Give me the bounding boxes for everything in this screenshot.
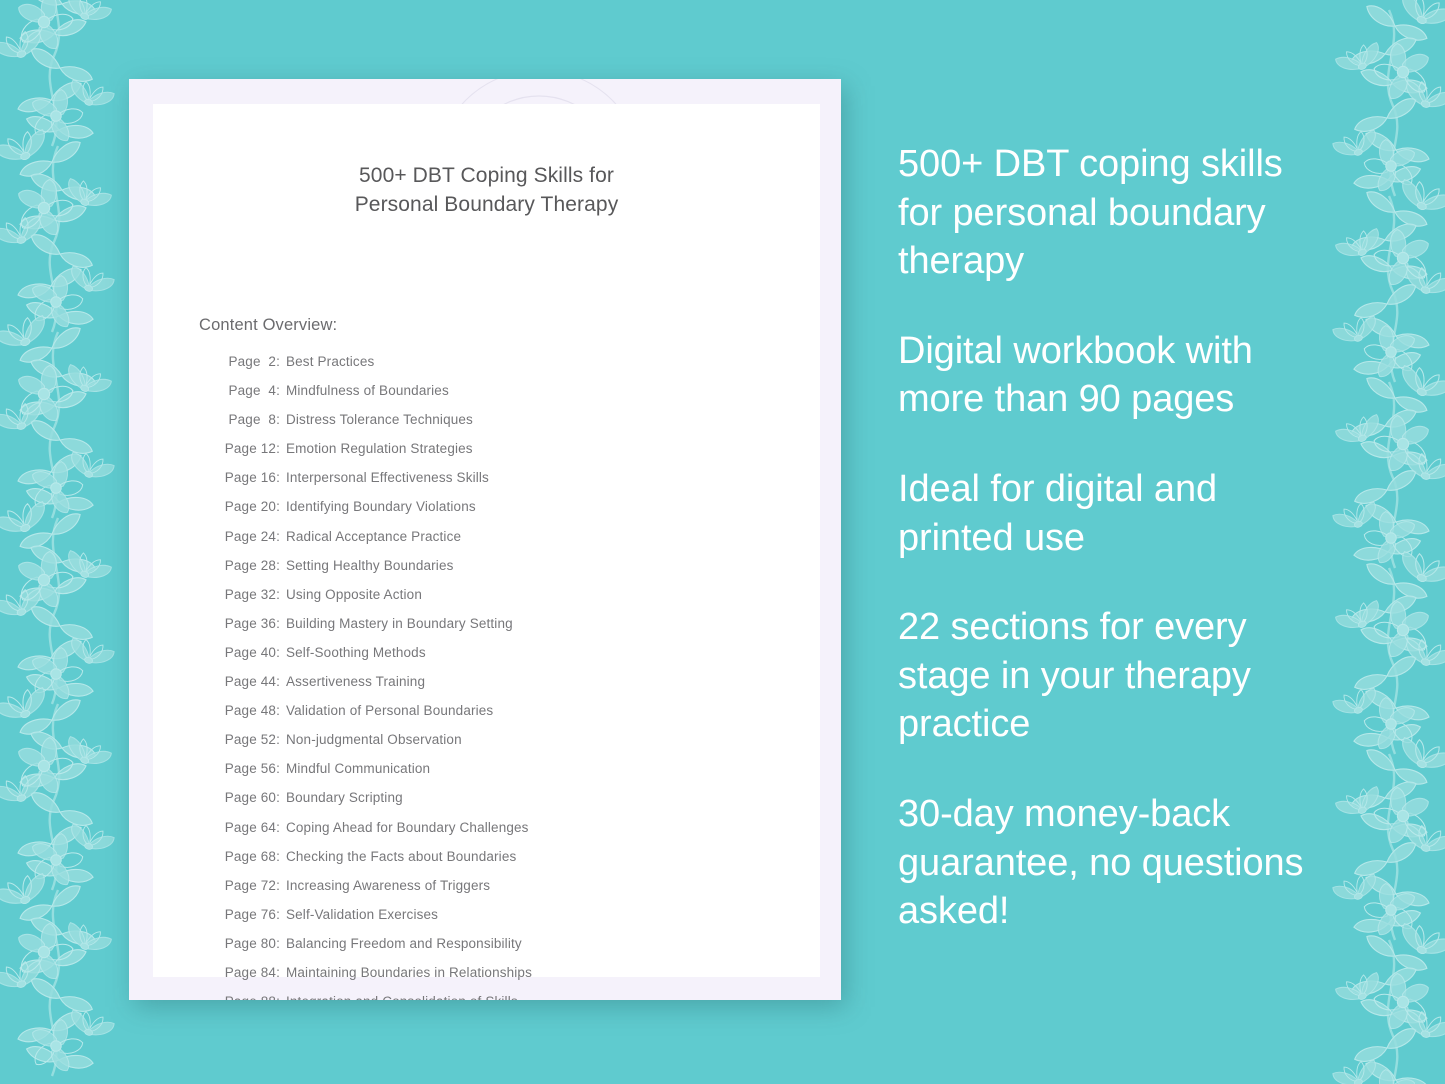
toc-entry-label: Identifying Boundary Violations: [286, 499, 476, 514]
floral-vine-border-left: [0, 0, 128, 1084]
toc-entry-label: Boundary Scripting: [286, 790, 403, 805]
toc-entry-label: Increasing Awareness of Triggers: [286, 878, 490, 893]
toc-row: Page 12:Emotion Regulation Strategies: [222, 441, 802, 470]
toc-page-number: Page 4:: [222, 383, 280, 398]
toc-entry-label: Emotion Regulation Strategies: [286, 441, 473, 456]
toc-page-number: Page 2:: [222, 354, 280, 369]
toc-page-number: Page 88:: [222, 994, 280, 1000]
marketing-bullet: 30-day money-back guarantee, no question…: [898, 790, 1328, 936]
toc-entry-label: Self-Soothing Methods: [286, 645, 426, 660]
toc-row: Page 84:Maintaining Boundaries in Relati…: [222, 965, 802, 994]
toc-row: Page 60:Boundary Scripting: [222, 790, 802, 819]
toc-page-number: Page 76:: [222, 907, 280, 922]
toc-page-number: Page 16:: [222, 470, 280, 485]
toc-row: Page 20:Identifying Boundary Violations: [222, 499, 802, 528]
toc-row: Page 8:Distress Tolerance Techniques: [222, 412, 802, 441]
toc-entry-label: Integration and Consolidation of Skills: [286, 994, 518, 1000]
toc-row: Page 80:Balancing Freedom and Responsibi…: [222, 936, 802, 965]
toc-row: Page 2:Best Practices: [222, 354, 802, 383]
toc-entry-label: Mindfulness of Boundaries: [286, 383, 449, 398]
toc-page-number: Page 64:: [222, 820, 280, 835]
toc-entry-label: Using Opposite Action: [286, 587, 422, 602]
marketing-bullet: Ideal for digital and printed use: [898, 465, 1328, 562]
toc-entry-label: Coping Ahead for Boundary Challenges: [286, 820, 529, 835]
toc-entry-label: Best Practices: [286, 354, 374, 369]
toc-entry-label: Self-Validation Exercises: [286, 907, 438, 922]
toc-row: Page 88:Integration and Consolidation of…: [222, 994, 802, 1000]
toc-page-number: Page 36:: [222, 616, 280, 631]
page-title: 500+ DBT Coping Skills for Personal Boun…: [153, 161, 820, 219]
document-page: 500+ DBT Coping Skills for Personal Boun…: [153, 104, 820, 977]
toc-page-number: Page 48:: [222, 703, 280, 718]
toc-page-number: Page 60:: [222, 790, 280, 805]
workbook-preview-card: 500+ DBT Coping Skills for Personal Boun…: [129, 79, 841, 1000]
toc-row: Page 44:Assertiveness Training: [222, 674, 802, 703]
toc-page-number: Page 24:: [222, 529, 280, 544]
toc-entry-label: Building Mastery in Boundary Setting: [286, 616, 513, 631]
toc-row: Page 16:Interpersonal Effectiveness Skil…: [222, 470, 802, 499]
toc-entry-label: Mindful Communication: [286, 761, 430, 776]
toc-entry-label: Validation of Personal Boundaries: [286, 703, 493, 718]
toc-entry-label: Non-judgmental Observation: [286, 732, 462, 747]
toc-entry-label: Assertiveness Training: [286, 674, 425, 689]
table-of-contents: Page 2:Best PracticesPage 4:Mindfulness …: [222, 354, 802, 1000]
content-overview-label: Content Overview:: [199, 316, 337, 335]
toc-page-number: Page 32:: [222, 587, 280, 602]
toc-entry-label: Setting Healthy Boundaries: [286, 558, 454, 573]
toc-page-number: Page 56:: [222, 761, 280, 776]
toc-entry-label: Checking the Facts about Boundaries: [286, 849, 516, 864]
toc-page-number: Page 80:: [222, 936, 280, 951]
toc-row: Page 36:Building Mastery in Boundary Set…: [222, 616, 802, 645]
toc-row: Page 4:Mindfulness of Boundaries: [222, 383, 802, 412]
toc-page-number: Page 28:: [222, 558, 280, 573]
toc-row: Page 40:Self-Soothing Methods: [222, 645, 802, 674]
toc-page-number: Page 20:: [222, 499, 280, 514]
toc-page-number: Page 68:: [222, 849, 280, 864]
toc-row: Page 32:Using Opposite Action: [222, 587, 802, 616]
marketing-bullet-list: 500+ DBT coping skills for personal boun…: [898, 140, 1328, 936]
toc-entry-label: Balancing Freedom and Responsibility: [286, 936, 522, 951]
marketing-bullet: 500+ DBT coping skills for personal boun…: [898, 140, 1328, 286]
toc-page-number: Page 44:: [222, 674, 280, 689]
toc-row: Page 56:Mindful Communication: [222, 761, 802, 790]
toc-page-number: Page 8:: [222, 412, 280, 427]
marketing-bullet: Digital workbook with more than 90 pages: [898, 327, 1328, 424]
toc-page-number: Page 12:: [222, 441, 280, 456]
marketing-bullet: 22 sections for every stage in your ther…: [898, 603, 1328, 749]
toc-page-number: Page 84:: [222, 965, 280, 980]
toc-row: Page 24:Radical Acceptance Practice: [222, 529, 802, 558]
toc-page-number: Page 52:: [222, 732, 280, 747]
toc-entry-label: Interpersonal Effectiveness Skills: [286, 470, 489, 485]
toc-row: Page 28:Setting Healthy Boundaries: [222, 558, 802, 587]
toc-page-number: Page 40:: [222, 645, 280, 660]
poster-canvas: 500+ DBT Coping Skills for Personal Boun…: [0, 0, 1445, 1084]
toc-row: Page 64:Coping Ahead for Boundary Challe…: [222, 820, 802, 849]
toc-row: Page 76:Self-Validation Exercises: [222, 907, 802, 936]
toc-row: Page 52:Non-judgmental Observation: [222, 732, 802, 761]
toc-row: Page 72:Increasing Awareness of Triggers: [222, 878, 802, 907]
toc-entry-label: Distress Tolerance Techniques: [286, 412, 473, 427]
toc-row: Page 68:Checking the Facts about Boundar…: [222, 849, 802, 878]
toc-row: Page 48:Validation of Personal Boundarie…: [222, 703, 802, 732]
toc-entry-label: Radical Acceptance Practice: [286, 529, 461, 544]
toc-entry-label: Maintaining Boundaries in Relationships: [286, 965, 532, 980]
toc-page-number: Page 72:: [222, 878, 280, 893]
floral-vine-border-right: [1319, 0, 1445, 1084]
